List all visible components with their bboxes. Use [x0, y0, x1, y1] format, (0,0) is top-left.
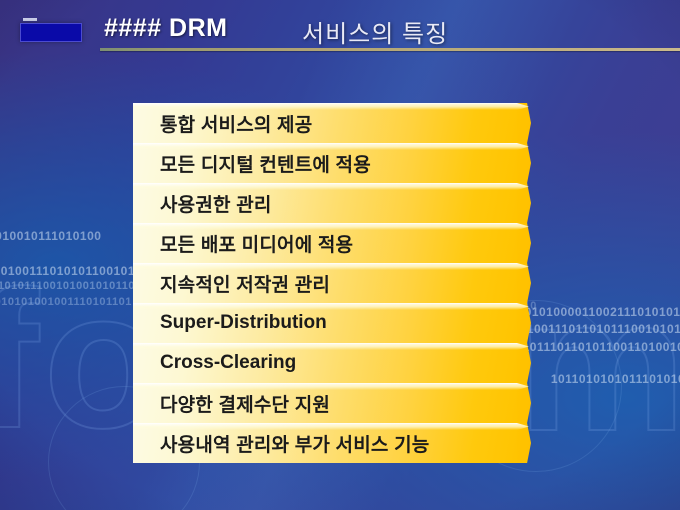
feature-bar-arrow-icon: [517, 343, 531, 383]
feature-bar-arrow-icon: [517, 383, 531, 423]
slide-title: #### DRM: [104, 14, 228, 43]
feature-bar[interactable]: 지속적인 저작권 관리: [133, 263, 531, 303]
feature-bar-label: 사용권한 관리: [160, 190, 272, 217]
feature-bar-arrow-icon: [517, 143, 531, 183]
feature-bar[interactable]: 모든 배포 미디어에 적용: [133, 223, 531, 263]
feature-bar-arrow-icon: [517, 183, 531, 223]
feature-bar[interactable]: Super-Distribution: [133, 303, 531, 343]
slide-subtitle: 서비스의 특징: [302, 14, 448, 49]
feature-bar[interactable]: Cross-Clearing: [133, 343, 531, 383]
feature-bar[interactable]: 다양한 결제수단 지원: [133, 383, 531, 423]
feature-bar-label: 사용내역 관리와 부가 서비스 기능: [160, 430, 429, 457]
feature-bar-label: 지속적인 저작권 관리: [160, 270, 330, 297]
feature-bar[interactable]: 사용권한 관리: [133, 183, 531, 223]
feature-bar-label: 다양한 결제수단 지원: [160, 390, 330, 417]
feature-bar-arrow-icon: [517, 223, 531, 263]
feature-bar[interactable]: 모든 디지털 컨텐트에 적용: [133, 143, 531, 183]
company-logo-block: [20, 23, 82, 42]
feature-bar-label: Cross-Clearing: [160, 352, 296, 374]
feature-bar-label: 모든 배포 미디어에 적용: [160, 230, 353, 257]
feature-bar[interactable]: 통합 서비스의 제공: [133, 103, 531, 143]
feature-bar-label: Super-Distribution: [160, 312, 327, 334]
feature-bar-arrow-icon: [517, 423, 531, 463]
logo-tick-mark: [23, 18, 37, 21]
feature-bar-label: 통합 서비스의 제공: [160, 110, 312, 137]
feature-bar[interactable]: 사용내역 관리와 부가 서비스 기능: [133, 423, 531, 463]
feature-bar-arrow-icon: [517, 103, 531, 143]
feature-bar-arrow-icon: [517, 303, 531, 343]
feature-bar-list: 통합 서비스의 제공모든 디지털 컨텐트에 적용사용권한 관리모든 배포 미디어…: [133, 103, 531, 463]
title-divider-rule: [100, 48, 680, 51]
feature-bar-label: 모든 디지털 컨텐트에 적용: [160, 150, 371, 177]
feature-bar-arrow-icon: [517, 263, 531, 303]
presentation-slide: fo om 0010010111010100 10000100111010101…: [0, 0, 680, 510]
